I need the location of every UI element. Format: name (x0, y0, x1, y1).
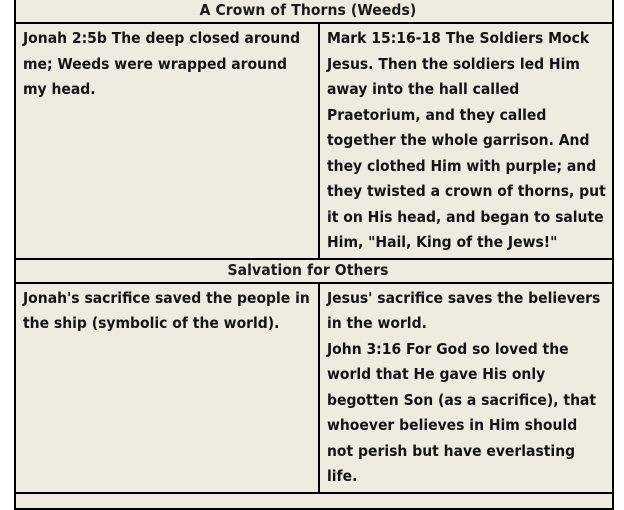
section-header-cell-partial-bottom (15, 493, 613, 509)
cell-jesus-crown-of-thorns-text: Mark 15:16-18 The Soldiers Mock Jesus. T… (320, 24, 612, 258)
table-row-salvation-for-others: Jonah's sacrifice saved the people in th… (15, 283, 613, 493)
section-header-row-partial-bottom (15, 493, 613, 509)
section-header-cell-crown-of-thorns: A Crown of Thorns (Weeds) (15, 0, 613, 23)
comparison-table: A Crown of Thorns (Weeds) Jonah 2:5b The… (14, 0, 614, 510)
cell-jonah-crown-of-thorns: Jonah 2:5b The deep closed around me; We… (15, 23, 319, 259)
section-title-salvation-for-others: Salvation for Others (10, 260, 606, 280)
cell-jesus-salvation: Jesus' sacrifice saves the believers in … (319, 283, 613, 493)
cell-jesus-salvation-text: Jesus' sacrifice saves the believers in … (320, 284, 612, 492)
cell-jonah-crown-of-thorns-text: Jonah 2:5b The deep closed around me; We… (16, 24, 318, 105)
table-row-crown-of-thorns: Jonah 2:5b The deep closed around me; We… (15, 23, 613, 259)
cell-jonah-salvation: Jonah's sacrifice saved the people in th… (15, 283, 319, 493)
section-title-crown-of-thorns: A Crown of Thorns (Weeds) (10, 0, 606, 20)
cell-jesus-crown-of-thorns: Mark 15:16-18 The Soldiers Mock Jesus. T… (319, 23, 613, 259)
section-header-row-salvation-for-others: Salvation for Others (15, 259, 613, 283)
cell-jonah-salvation-text: Jonah's sacrifice saved the people in th… (16, 284, 318, 339)
section-header-row-crown-of-thorns: A Crown of Thorns (Weeds) (15, 0, 613, 23)
section-header-cell-salvation-for-others: Salvation for Others (15, 259, 613, 283)
